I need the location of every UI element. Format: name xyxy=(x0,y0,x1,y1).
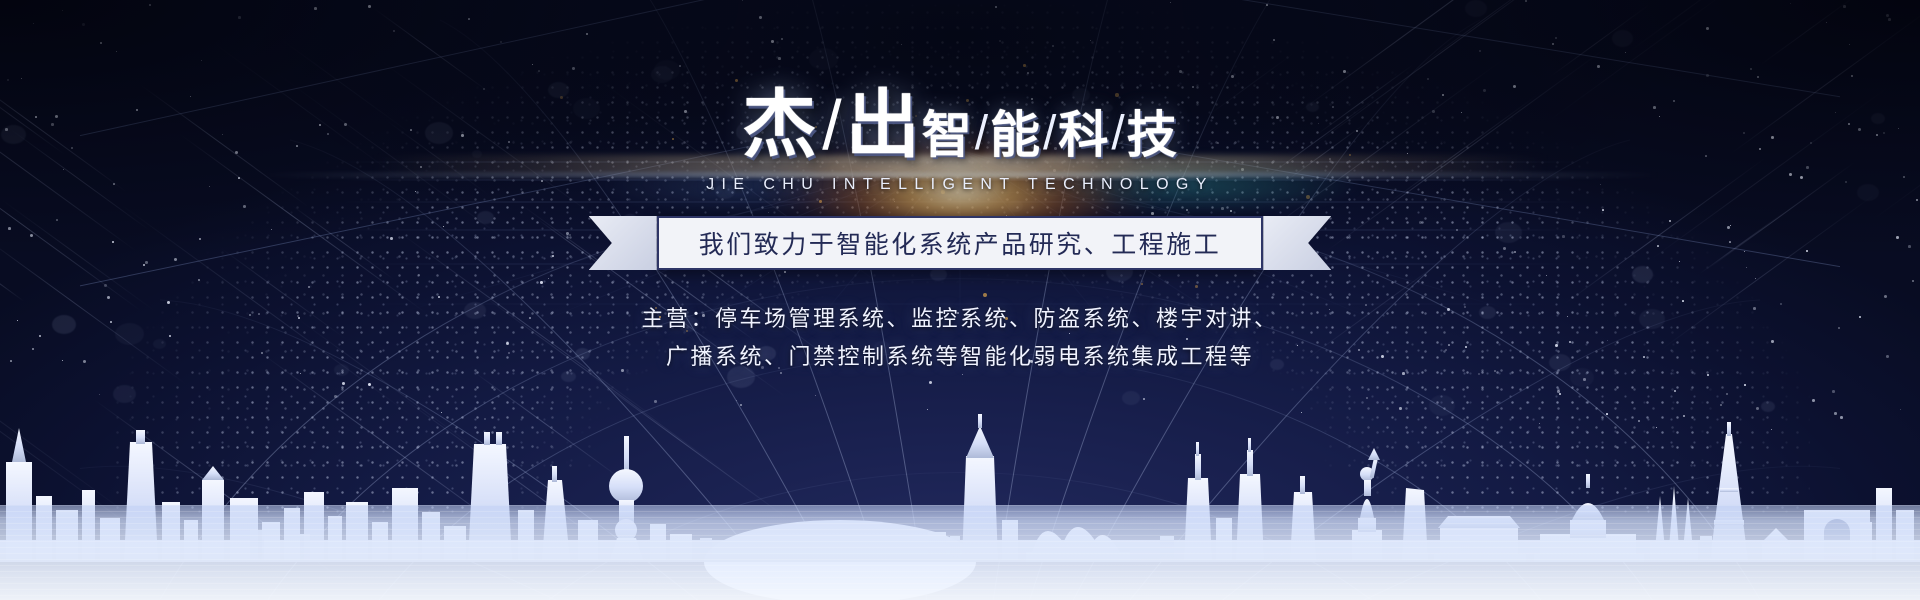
ribbon-tail-left xyxy=(589,216,657,270)
description-line-1: 主营：停车场管理系统、监控系统、防盗系统、楼宇对讲、 xyxy=(641,300,1278,338)
title-separator-4: / xyxy=(1111,110,1124,158)
english-subtitle: JIE CHU INTELLIGENT TECHNOLOGY xyxy=(706,176,1214,194)
title-separator-1: / xyxy=(822,90,841,160)
description-line-2: 广播系统、门禁控制系统等智能化弱电系统集成工程等 xyxy=(641,338,1278,376)
title-char-ke: 科 xyxy=(1058,110,1109,160)
business-description: 主营：停车场管理系统、监控系统、防盗系统、楼宇对讲、 广播系统、门禁控制系统等智… xyxy=(641,300,1278,376)
slogan-ribbon: 我们致力于智能化系统产品研究、工程施工 xyxy=(589,216,1332,270)
title-char-ji: 技 xyxy=(1127,110,1178,160)
title-separator-2: / xyxy=(975,110,988,158)
title-separator-3: / xyxy=(1043,110,1056,158)
title-char-zhi: 智 xyxy=(922,110,973,160)
hero-banner: 杰 / 出 智 / 能 / 科 / 技 JIE CHU INTELLIGENT … xyxy=(0,0,1920,600)
title-char-jie: 杰 xyxy=(742,88,818,162)
water-shimmer-lines xyxy=(0,505,1920,600)
ribbon-tail-right xyxy=(1263,216,1331,270)
page-title: 杰 / 出 智 / 能 / 科 / 技 xyxy=(742,88,1177,162)
ribbon-body: 我们致力于智能化系统产品研究、工程施工 xyxy=(657,216,1264,270)
ribbon-slogan-text: 我们致力于智能化系统产品研究、工程施工 xyxy=(699,225,1222,261)
title-char-chu: 出 xyxy=(846,88,922,162)
title-char-neng: 能 xyxy=(990,110,1041,160)
